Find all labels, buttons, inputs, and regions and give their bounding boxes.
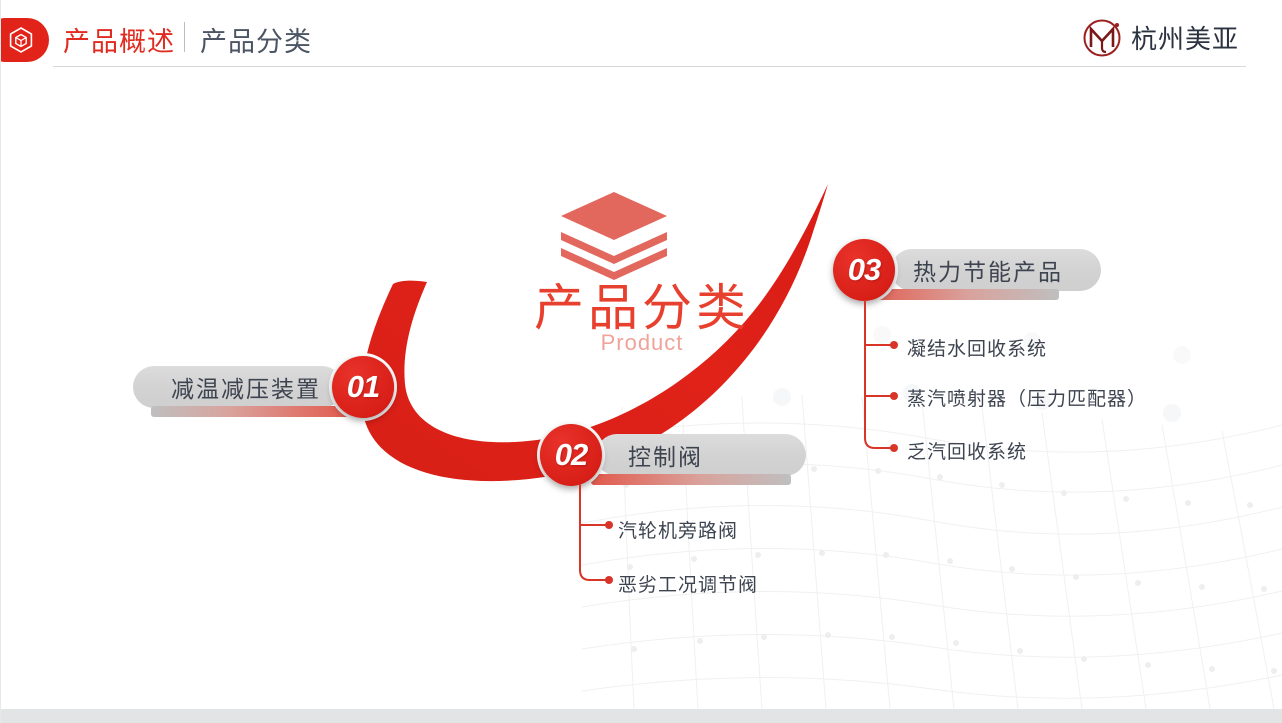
page-subtitle: 产品分类 [200,20,312,59]
node-02-number: 02 [555,437,587,473]
cube-hexagon-icon [0,18,49,62]
layers-stack-icon [554,190,674,280]
bottom-strip [1,709,1282,723]
circle-m-logo-icon [1079,14,1125,60]
node-02-underline [591,474,791,485]
node-03-underline [859,289,1059,300]
node-03-circle[interactable]: 03 [833,239,895,301]
brand-logo-text: 杭州美亚 [1131,19,1239,56]
header-rule [53,66,1246,67]
node-03-number: 03 [848,252,880,288]
center-subtitle: Product [1,330,1282,356]
slide-canvas: 产品概述 产品分类 杭州美亚 产品分类 P [0,0,1282,723]
node-02-sub-item-1[interactable]: 恶劣工况调节阀 [618,570,758,597]
node-02-circle[interactable]: 02 [540,424,602,486]
node-03-sub-item-1[interactable]: 蒸汽喷射器（压力匹配器） [907,384,1147,411]
node-03-pill[interactable]: 热力节能产品 [891,249,1101,291]
header-divider [184,22,185,52]
node-02-sub-item-0[interactable]: 汽轮机旁路阀 [618,516,738,543]
node-02-label: 控制阀 [628,438,703,472]
node-02-pill[interactable]: 控制阀 [596,434,806,476]
node-03-sub-item-2[interactable]: 乏汽回收系统 [907,437,1027,464]
node-01-underline [151,406,351,417]
node-01-circle[interactable]: 01 [332,356,394,418]
node-03-sub-item-0[interactable]: 凝结水回收系统 [907,334,1047,361]
node-01-label: 减温减压装置 [171,370,321,404]
brand-logo: 杭州美亚 [1079,14,1239,60]
node-03-label: 热力节能产品 [913,253,1063,287]
slide-header: 产品概述 产品分类 杭州美亚 [1,0,1282,72]
page-title: 产品概述 [63,20,175,59]
node-01-pill[interactable]: 减温减压装置 [133,366,343,408]
node-01-number: 01 [347,369,379,405]
